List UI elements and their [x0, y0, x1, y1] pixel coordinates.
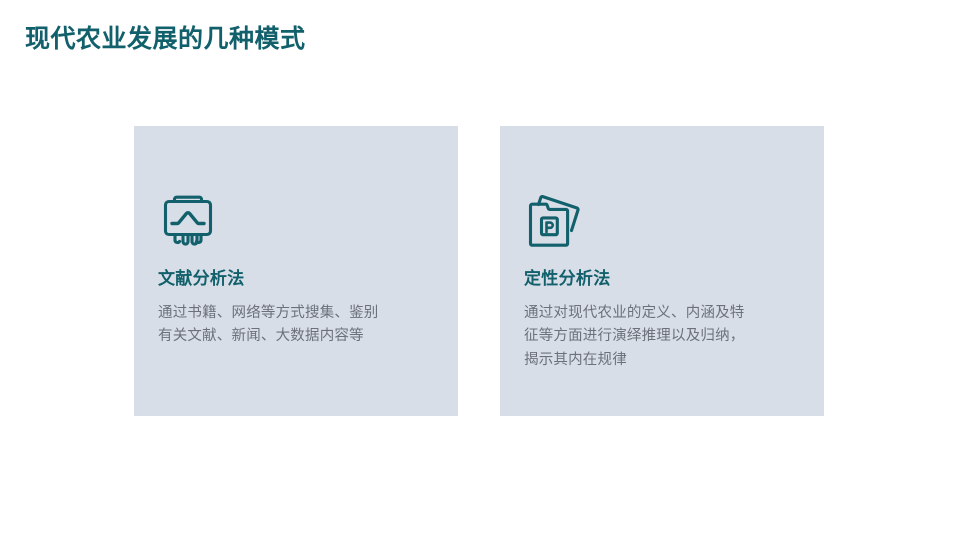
card-body-text: 通过书籍、网络等方式搜集、鉴别 有关文献、新闻、大数据内容等: [158, 302, 440, 349]
card-item[interactable]: 文献分析法 通过书籍、网络等方式搜集、鉴别 有关文献、新闻、大数据内容等: [134, 126, 458, 416]
card-heading: 文献分析法: [158, 268, 245, 290]
card-item[interactable]: 定性分析法 通过对现代农业的定义、内涵及特 征等方面进行演绎推理以及归纳， 揭示…: [500, 126, 824, 416]
card-heading: 定性分析法: [524, 268, 611, 290]
page-title: 现代农业发展的几种模式: [25, 24, 306, 54]
folder-p-icon: [524, 192, 584, 252]
card-list: 文献分析法 通过书籍、网络等方式搜集、鉴别 有关文献、新闻、大数据内容等 定性分…: [134, 126, 824, 416]
slide-canvas: 现代农业发展的几种模式 文献分析法 通过书籍、网络等方式搜集、鉴别 有关文献、新…: [0, 0, 960, 540]
presentation-board-icon: [158, 192, 218, 252]
card-body-text: 通过对现代农业的定义、内涵及特 征等方面进行演绎推理以及归纳， 揭示其内在规律: [524, 302, 806, 372]
